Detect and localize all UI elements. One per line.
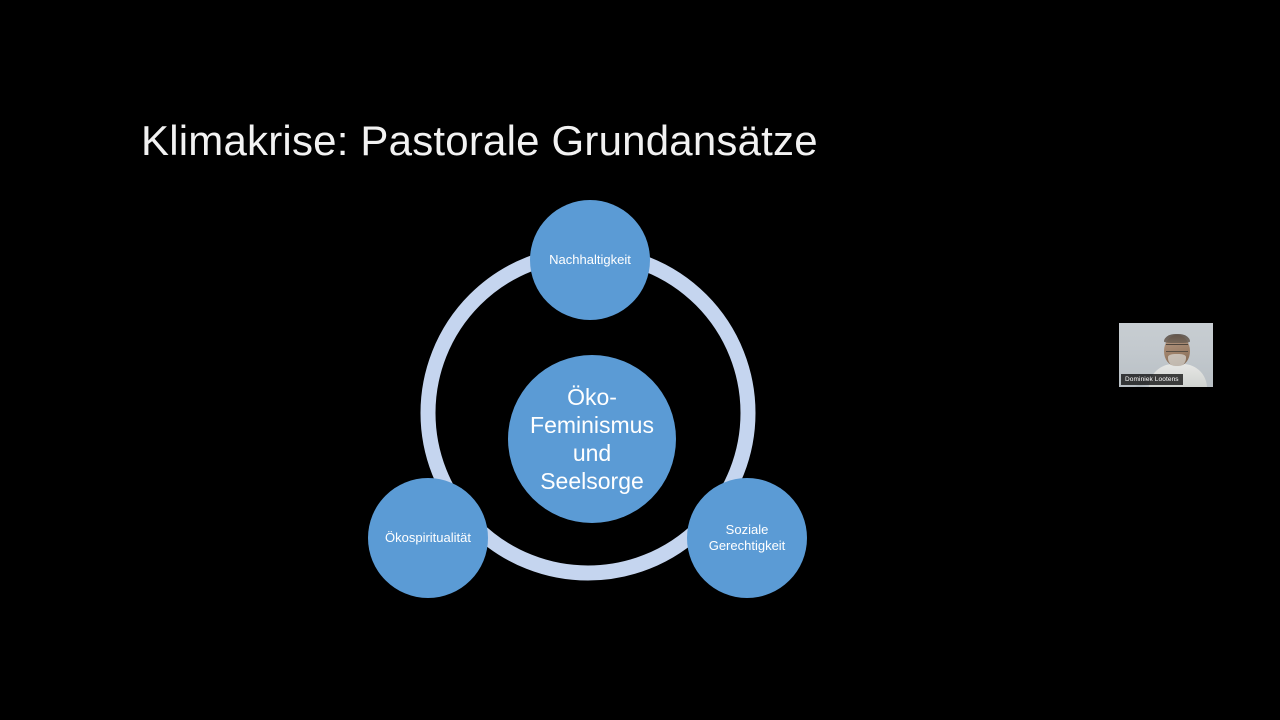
page-title: Klimakrise: Pastorale Grundansätze [141,117,1141,165]
cycle-node-label: Nachhaltigkeit [543,252,637,268]
slide-surface: Klimakrise: Pastorale Grundansätze Nachh… [0,0,1280,720]
cycle-node-soziale-gerechtigkeit[interactable]: Soziale Gerechtigkeit [687,478,807,598]
cycle-node-center[interactable]: Öko- Feminismus und Seelsorge [508,355,676,523]
cycle-node-nachhaltigkeit[interactable]: Nachhaltigkeit [530,200,650,320]
webcam-person-hair [1164,334,1190,343]
cycle-diagram: Nachhaltigkeit Ökospiritualität Soziale … [380,190,820,640]
cycle-node-oekospiritualitaet[interactable]: Ökospiritualität [368,478,488,598]
glasses-icon [1166,344,1188,352]
cycle-node-center-label: Öko- Feminismus und Seelsorge [524,383,660,495]
webcam-thumbnail[interactable]: Dominiek Lootens [1119,323,1213,387]
cycle-node-label: Soziale Gerechtigkeit [703,522,792,554]
participant-name-label: Dominiek Lootens [1121,374,1183,385]
cycle-node-label: Ökospiritualität [379,530,477,546]
